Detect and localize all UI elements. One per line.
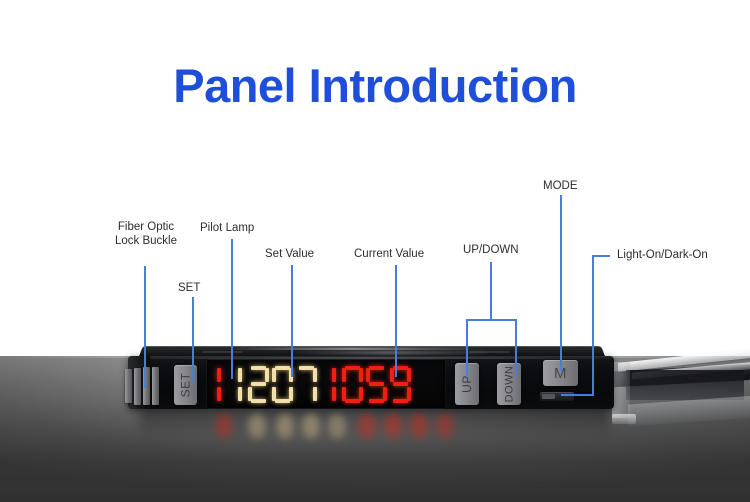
annotation-pilot-lamp: Pilot Lamp [200,221,254,235]
annotation-line-1: UP/DOWN [463,243,519,257]
annotation-current-value: Current Value [354,247,424,261]
acrylic-mounting-bracket [608,340,750,448]
annotation-line-1: Set Value [265,247,314,261]
seven-segment-digit [342,366,363,403]
leader-line-set [192,297,194,382]
seven-segment-digit [272,366,293,403]
set-value-digits [236,366,320,403]
seven-segment-digit [390,366,411,403]
led-display-window [207,360,445,408]
annotation-light-on-dark-on: Light-On/Dark-On [617,248,708,262]
leader-line-up-down-right-drop [515,319,517,377]
down-button[interactable]: DOWN [497,363,521,405]
annotation-line-2: Lock Buckle [106,234,186,248]
leader-line-mode [560,195,562,371]
annotation-up-down: UP/DOWN [463,243,519,257]
leader-line-up-down-stem [490,262,492,320]
leader-line-current-value [395,265,397,377]
annotation-set-value: Set Value [265,247,314,261]
leader-line-pilot-lamp [231,239,233,379]
screenshot-canvas: Panel Introduction [0,0,750,502]
down-button-label: DOWN [503,366,515,403]
annotation-line-1: Pilot Lamp [200,221,254,235]
annotation-fiber-optic-lock-buckle: Fiber Optic Lock Buckle [106,220,186,248]
seven-segment-digit [296,366,317,403]
seven-segment-digit [248,366,269,403]
up-button-label: UP [460,375,474,393]
page-title: Panel Introduction [0,58,750,113]
annotation-line-1: Light-On/Dark-On [617,248,708,262]
buckle-fin [134,368,141,405]
seven-segment-digit [236,366,245,403]
switch-nub [542,394,555,399]
pilot-lamp-digit [215,366,224,403]
buckle-fin [152,367,159,405]
pilot-lamp-indicator [215,366,227,403]
annotation-mode: MODE [543,179,578,193]
annotation-line-1: Fiber Optic [106,220,186,234]
current-value-digits [330,366,414,403]
seven-segment-digit [330,366,339,403]
annotation-set: SET [178,281,200,295]
leader-line-light-dark-vertical [592,255,594,396]
buckle-fin [125,369,132,403]
set-button-label: SET [179,373,193,398]
leader-line-up-down-left-drop [466,319,468,377]
seven-segment-digit [366,366,387,403]
leader-line-set-value [291,265,293,377]
annotation-line-1: SET [178,281,200,295]
leader-line-light-dark-bottom [561,394,594,396]
leader-line-fiber-optic-lock-buckle [144,266,146,388]
leader-line-up-down-crossbar [466,319,517,321]
annotation-line-1: Current Value [354,247,424,261]
annotation-line-1: MODE [543,179,578,193]
leader-line-light-dark-elbow-top [592,255,610,257]
